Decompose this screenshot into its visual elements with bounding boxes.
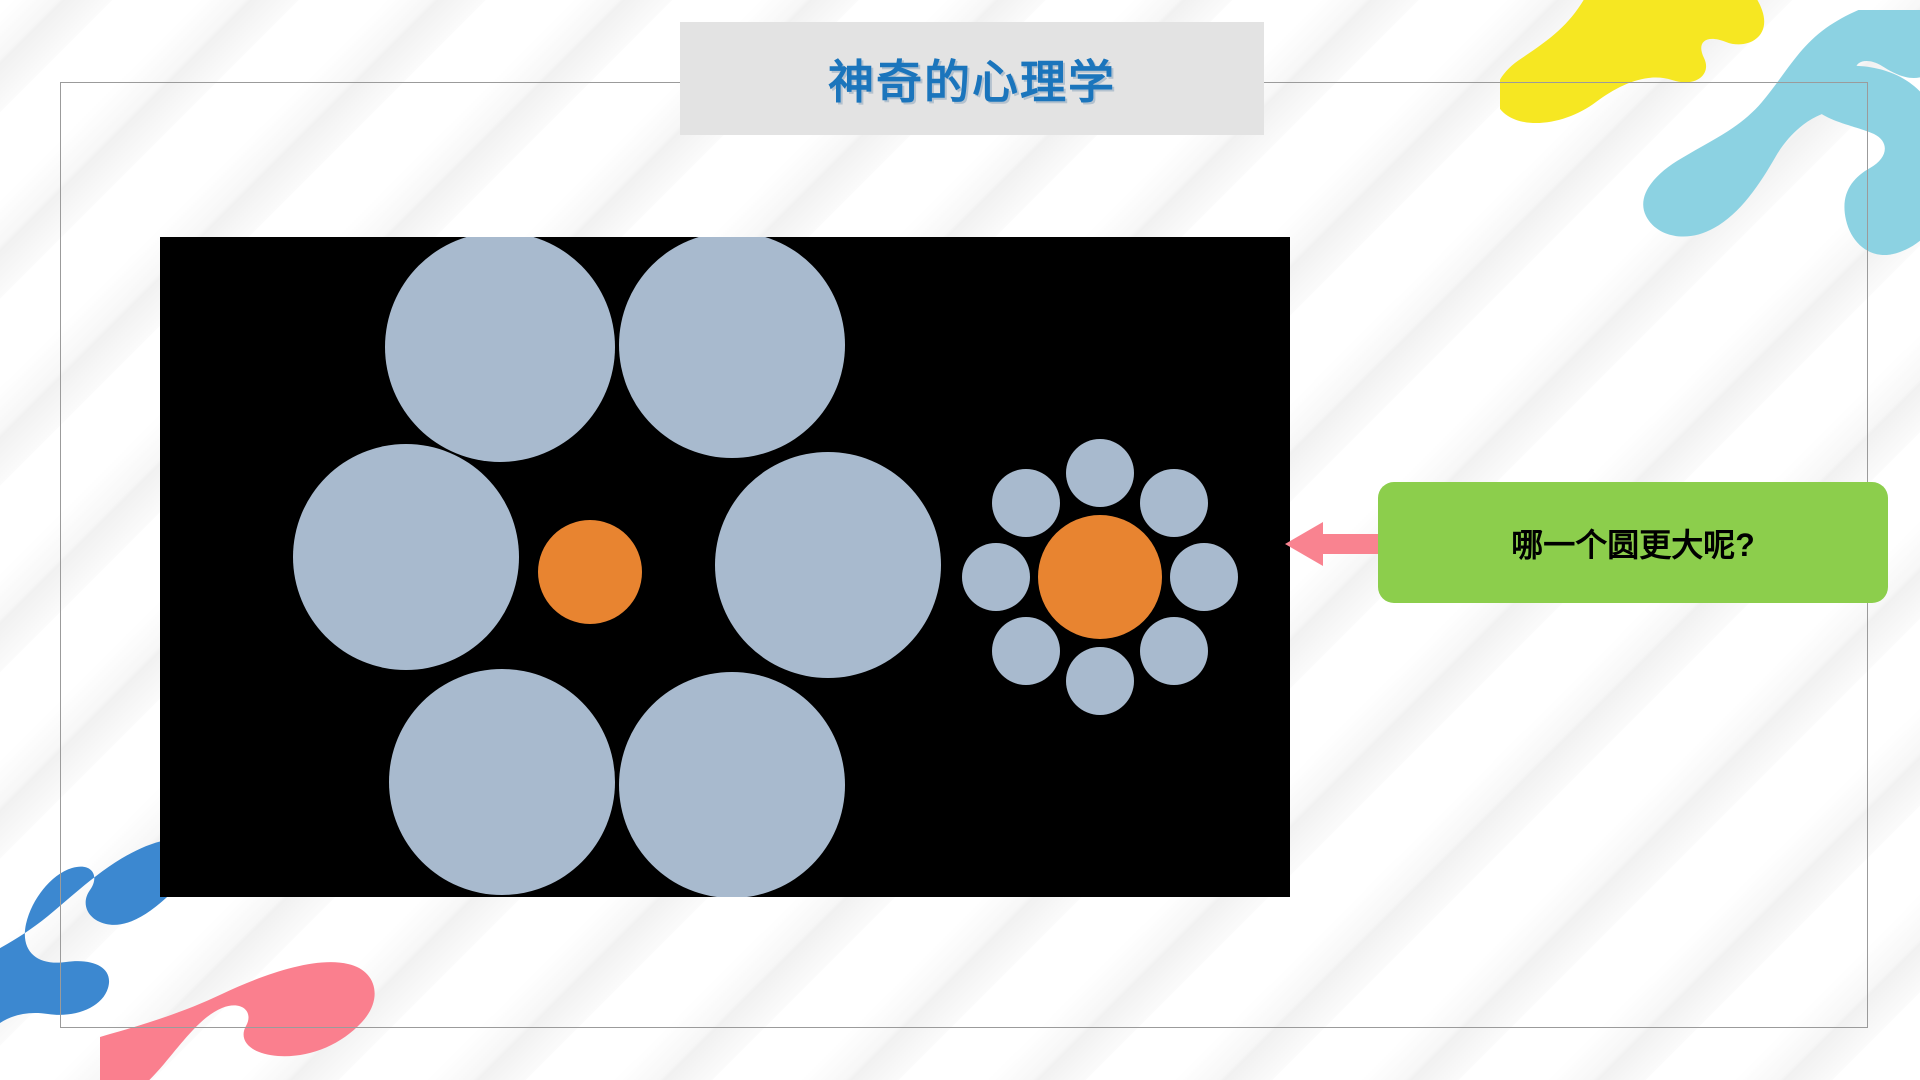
illusion-center-circle-right (1038, 515, 1162, 639)
illusion-circle-gray-small (1140, 469, 1208, 537)
illusion-circle-gray-small (1066, 439, 1134, 507)
illusion-circle-gray (389, 669, 615, 895)
illusion-circle-gray-small (1066, 647, 1134, 715)
illusion-center-circle-left (538, 520, 642, 624)
illusion-circle-gray-small (962, 543, 1030, 611)
illusion-circle-gray (619, 237, 845, 458)
page-title-box: 神奇的心理学 (680, 22, 1264, 135)
question-callout-text: 哪一个圆更大呢? (1511, 520, 1755, 566)
illusion-circle-gray (715, 452, 941, 678)
page-title: 神奇的心理学 (828, 46, 1116, 112)
illusion-circle-gray (293, 444, 519, 670)
ebbinghaus-illusion-panel (160, 237, 1290, 897)
slide-canvas: 神奇的心理学 哪一个圆更大呢? (0, 0, 1920, 1080)
illusion-circle-gray-small (992, 617, 1060, 685)
illusion-circle-gray-small (992, 469, 1060, 537)
question-callout-box: 哪一个圆更大呢? (1378, 482, 1888, 603)
illusion-circle-gray-small (1140, 617, 1208, 685)
illusion-circle-gray (619, 672, 845, 897)
illusion-circle-gray (385, 237, 615, 462)
illusion-circle-gray-small (1170, 543, 1238, 611)
